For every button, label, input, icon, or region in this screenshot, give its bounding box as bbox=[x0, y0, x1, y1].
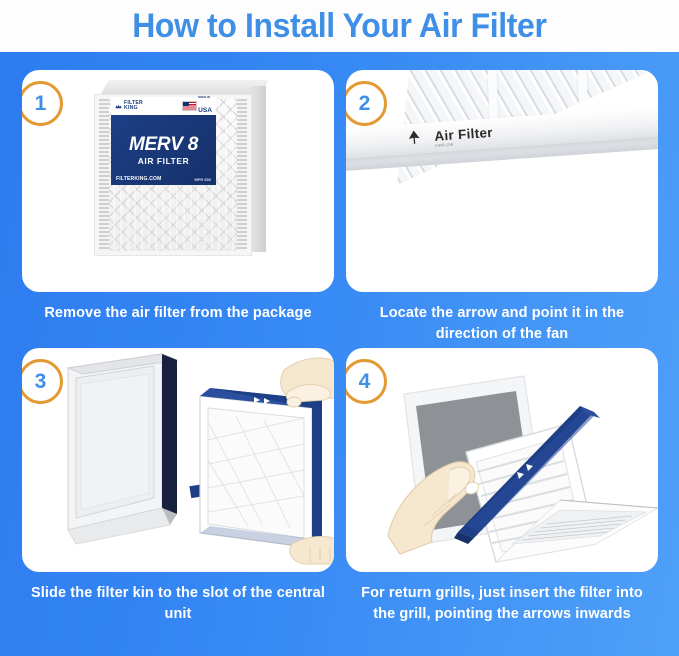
step-4: 4 For return grills, just insert the fil… bbox=[346, 348, 658, 625]
step-2: Air Filter AIRFLOW 2 Locate the arrow an… bbox=[346, 70, 658, 345]
step-2-card: Air Filter AIRFLOW 2 bbox=[346, 70, 658, 292]
slide-filter-into-central-unit-illustration bbox=[22, 348, 334, 572]
boxed-air-filter-photo: FILTER KING bbox=[94, 80, 266, 258]
step-1: FILTER KING bbox=[22, 70, 334, 324]
made-in-label: MADE IN bbox=[198, 96, 212, 99]
steps-grid: FILTER KING bbox=[0, 52, 679, 656]
step-3-caption: Slide the filter kin to the slot of the … bbox=[22, 583, 334, 625]
product-label: FILTER KING bbox=[111, 97, 216, 185]
step-2-caption: Locate the arrow and point it in the dir… bbox=[346, 303, 658, 345]
hand-upper bbox=[281, 358, 334, 407]
product-type: AIR FILTER bbox=[138, 156, 189, 166]
product-label-header: FILTER KING bbox=[111, 97, 216, 115]
step-1-image: FILTER KING bbox=[22, 70, 334, 292]
infographic-page: How to Install Your Air Filter bbox=[0, 0, 679, 656]
air-filter-panel bbox=[200, 388, 322, 548]
filter-king-logo: FILTER KING bbox=[115, 101, 143, 112]
step-2-image: Air Filter AIRFLOW bbox=[346, 70, 658, 292]
step-4-caption: For return grills, just insert the filte… bbox=[346, 583, 658, 625]
step-1-caption: Remove the air filter from the package bbox=[22, 303, 334, 324]
brand-website: FILTERKING.COM bbox=[116, 176, 161, 182]
filter-corner-airflow-arrow-photo: Air Filter AIRFLOW bbox=[346, 70, 658, 292]
page-title: How to Install Your Air Filter bbox=[132, 9, 546, 43]
usa-flag-icon bbox=[182, 101, 197, 111]
step-1-card: FILTER KING bbox=[22, 70, 334, 292]
central-unit-housing bbox=[68, 354, 177, 544]
product-label-body: MERV 8 AIR FILTER FILTERKING.COM MPR 650 bbox=[111, 115, 216, 185]
filter-left-edge-texture bbox=[99, 99, 109, 251]
filter-edge-label: Air Filter AIRFLOW bbox=[434, 125, 494, 148]
insert-filter-into-return-grill-illustration bbox=[346, 348, 658, 572]
step-3-card: 3 bbox=[22, 348, 334, 572]
filter-front-face: FILTER KING bbox=[94, 94, 252, 256]
filter-side-edge bbox=[252, 86, 266, 252]
step-4-image bbox=[346, 348, 658, 572]
step-3-image bbox=[22, 348, 334, 572]
made-in-usa-text: MADE IN USA bbox=[198, 96, 212, 117]
filter-right-edge-texture bbox=[237, 99, 247, 251]
brand-line-2: KING bbox=[124, 106, 143, 111]
title-band: How to Install Your Air Filter bbox=[0, 0, 679, 52]
country-label: USA bbox=[198, 107, 212, 114]
product-label-footer: FILTERKING.COM MPR 650 bbox=[111, 176, 216, 182]
step-3: 3 Slide the filter kin to the slot of th… bbox=[22, 348, 334, 625]
made-in-usa-badge: MADE IN USA bbox=[182, 96, 212, 117]
crown-icon bbox=[115, 103, 122, 110]
step-4-card: 4 bbox=[346, 348, 658, 572]
mpr-rating: MPR 650 bbox=[194, 177, 211, 182]
brand-text: FILTER KING bbox=[124, 101, 143, 112]
airflow-arrow-icon bbox=[405, 129, 424, 146]
merv-rating: MERV 8 bbox=[129, 135, 198, 154]
